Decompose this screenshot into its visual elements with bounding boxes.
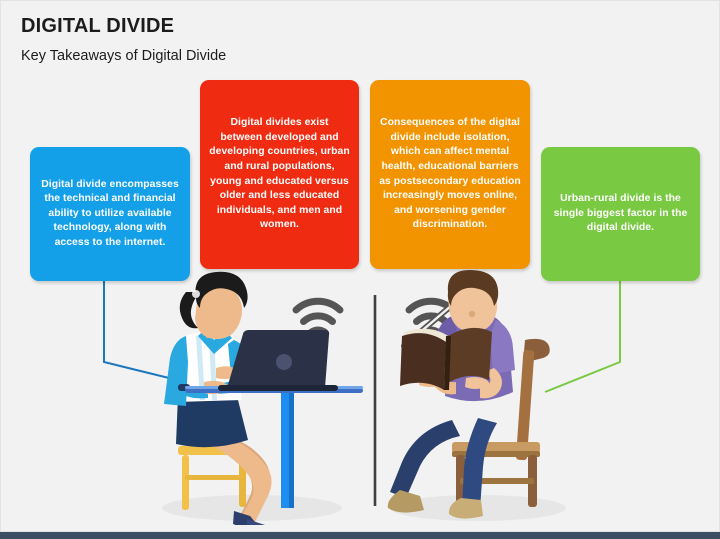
takeaway-card-green-text: Urban-rural divide is the single biggest… xyxy=(550,192,691,236)
takeaway-card-red[interactable]: Digital divides exist between developed … xyxy=(200,80,359,269)
slide-canvas: DIGITAL DIVIDE Key Takeaways of Digital … xyxy=(0,0,720,539)
takeaway-card-orange[interactable]: Consequences of the digital divide inclu… xyxy=(370,80,530,269)
laptop-base xyxy=(218,385,338,391)
bottom-bar xyxy=(0,532,720,539)
man-sleeve-far xyxy=(490,320,515,374)
man-leg-far xyxy=(390,420,460,498)
man-ear xyxy=(469,311,475,317)
chair-seat-edge xyxy=(452,451,540,457)
laptop-logo xyxy=(276,354,292,370)
page-title: DIGITAL DIVIDE xyxy=(21,15,174,38)
woman-hair-tie xyxy=(192,290,200,298)
takeaway-card-blue-text: Digital divide encompasses the technical… xyxy=(39,178,181,251)
takeaway-card-blue[interactable]: Digital divide encompasses the technical… xyxy=(30,147,190,281)
takeaway-card-orange-text: Consequences of the digital divide inclu… xyxy=(379,116,521,233)
page-subtitle: Key Takeaways of Digital Divide xyxy=(21,48,226,64)
illustration xyxy=(0,270,720,525)
woman-using-laptop-at-desk xyxy=(164,272,276,525)
book-page-right xyxy=(446,328,492,384)
takeaway-card-red-text: Digital divides exist between developed … xyxy=(209,116,350,233)
book-cover-left xyxy=(400,333,446,390)
laptop xyxy=(218,330,338,391)
takeaway-card-green[interactable]: Urban-rural divide is the single biggest… xyxy=(541,147,700,281)
desk-leg-shade xyxy=(289,393,294,508)
man-boot-far xyxy=(388,490,424,513)
